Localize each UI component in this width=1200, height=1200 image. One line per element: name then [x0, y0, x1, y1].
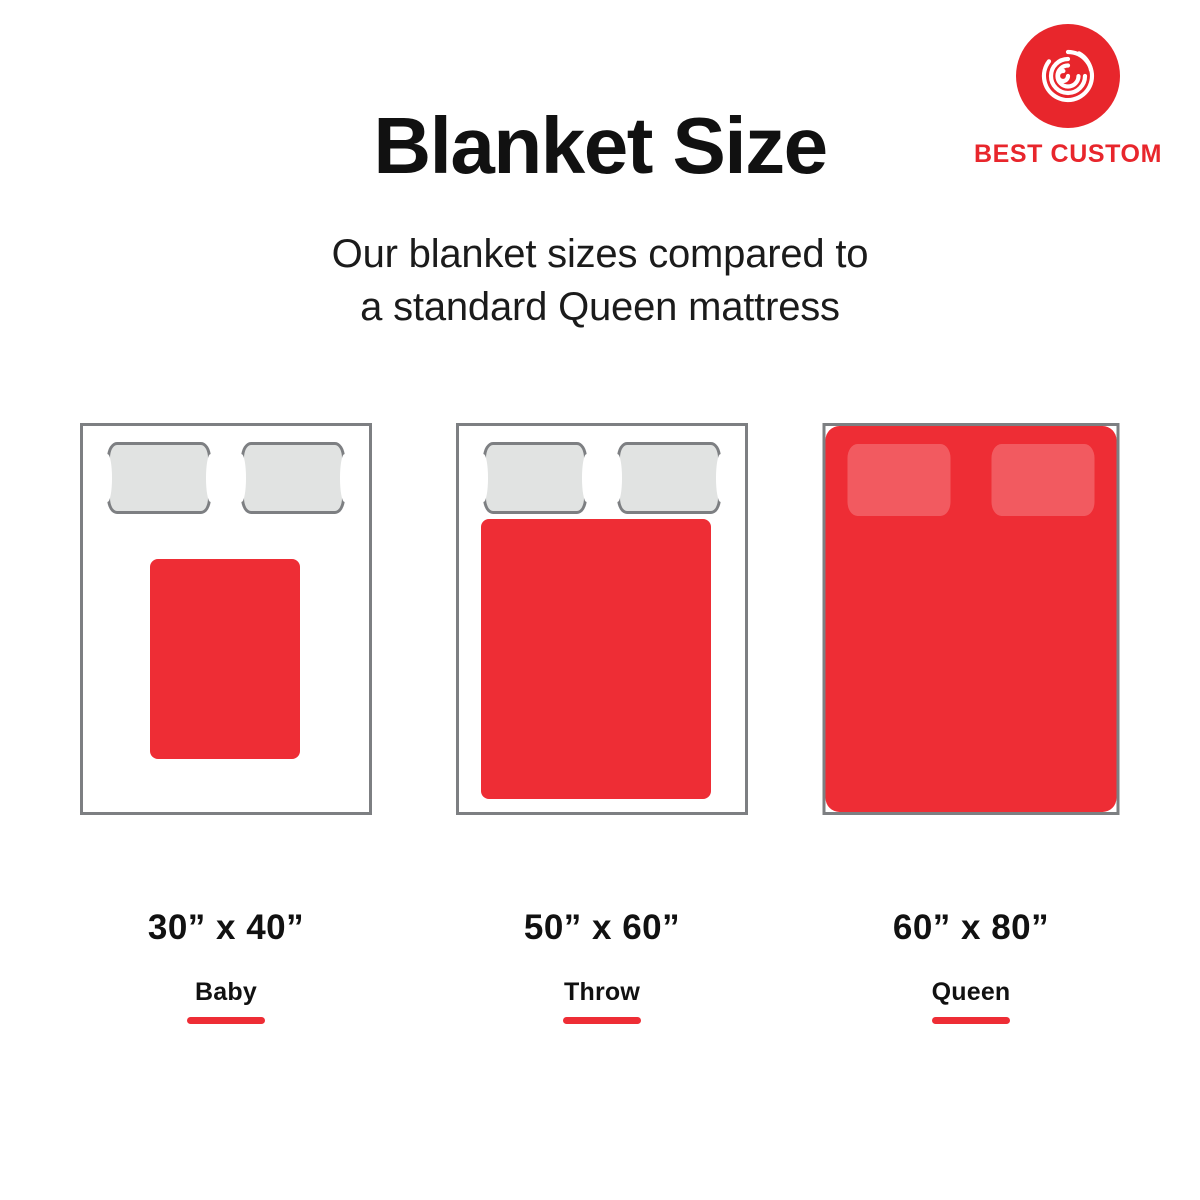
infographic-page: BEST CUSTOM Blanket Size Our blanket siz…: [0, 0, 1200, 1200]
pillow-right-icon: [617, 442, 721, 514]
blanket-swatch-throw: [481, 519, 711, 799]
mattress-outline-baby: [80, 423, 372, 815]
blanket-swatch-queen: [826, 426, 1117, 812]
underline-accent-throw: [563, 1017, 641, 1024]
page-title: Blanket Size: [0, 106, 1200, 186]
pillow-left-icon: [107, 442, 211, 514]
size-column-throw: 50” x 60” Throw: [417, 423, 787, 1063]
size-name-baby: Baby: [41, 978, 411, 1007]
pillow-right-icon: [241, 442, 345, 514]
page-subtitle: Our blanket sizes compared to a standard…: [0, 228, 1200, 334]
mattress-outline-queen: [823, 423, 1120, 815]
size-dimensions-baby: 30” x 40”: [41, 908, 411, 948]
mattress-outline-throw: [456, 423, 748, 815]
size-dimensions-throw: 50” x 60”: [417, 908, 787, 948]
size-comparison-group: 30” x 40” Baby 50” x 60” Throw: [0, 423, 1200, 1063]
underline-accent-baby: [187, 1017, 265, 1024]
blanket-swatch-baby: [150, 559, 300, 759]
page-subtitle-line-2: a standard Queen mattress: [0, 281, 1200, 334]
pillow-left-icon: [848, 444, 951, 516]
size-dimensions-queen: 60” x 80”: [786, 908, 1156, 948]
size-name-queen: Queen: [786, 978, 1156, 1007]
pillow-left-icon: [483, 442, 587, 514]
underline-accent-queen: [932, 1017, 1010, 1024]
size-column-queen: 60” x 80” Queen: [786, 423, 1156, 1063]
size-column-baby: 30” x 40” Baby: [41, 423, 411, 1063]
pillow-right-icon: [992, 444, 1095, 516]
page-subtitle-line-1: Our blanket sizes compared to: [0, 228, 1200, 281]
size-name-throw: Throw: [417, 978, 787, 1007]
